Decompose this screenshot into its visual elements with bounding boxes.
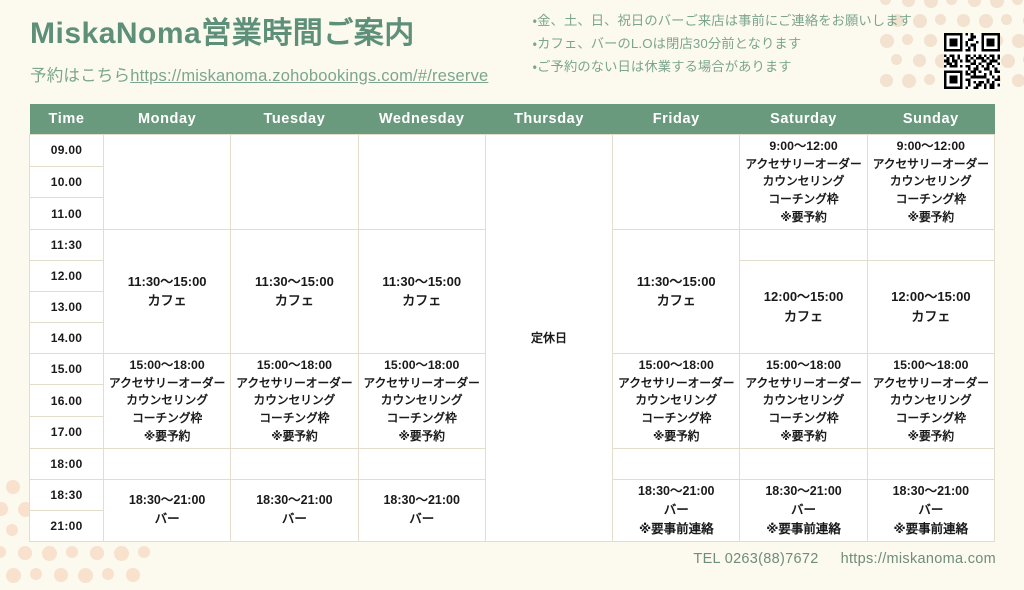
cell-saturday-order-morning[interactable]: 9:00〜12:00 アクセサリーオーダー カウンセリング コーチング枠 ※要予… [740, 135, 867, 230]
block-line-2: バー [741, 501, 865, 520]
block-line-1: 18:30〜21:00 [614, 482, 738, 501]
cell-monday-1800 [104, 448, 231, 479]
block-line-3: カウンセリング [614, 392, 738, 410]
cell-sunday-bar[interactable]: 18:30〜21:00 バー ※要事前連絡 [867, 479, 994, 541]
block-line-1: 15:00〜18:00 [741, 356, 865, 375]
cell-saturday-order[interactable]: 15:00〜18:00 アクセサリーオーダー カウンセリング コーチング枠 ※要… [740, 353, 867, 448]
block-line-1: 15:00〜18:00 [105, 356, 229, 375]
block-text: 12:00〜15:00 カフェ [740, 285, 866, 329]
block-text: 18:30〜21:00 バー [231, 489, 357, 531]
qr-code-svg [944, 33, 1000, 89]
block-text: 18:30〜21:00 バー [104, 489, 230, 531]
block-text: 15:00〜18:00 アクセサリーオーダー カウンセリング コーチング枠 ※要… [868, 354, 994, 448]
time-label: 09.00 [30, 135, 104, 167]
block-line-5: ※要予約 [741, 209, 865, 227]
block-line-4: コーチング枠 [105, 410, 229, 428]
block-text: 15:00〜18:00 アクセサリーオーダー カウンセリング コーチング枠 ※要… [359, 354, 485, 448]
cell-saturday-1800 [740, 448, 867, 479]
block-line-2: カフェ [741, 307, 865, 327]
cell-friday-cafe[interactable]: 11:30〜15:00 カフェ [613, 229, 740, 353]
column-header-wednesday: Wednesday [358, 104, 485, 135]
cell-friday-1800 [613, 448, 740, 479]
block-line-3: カウンセリング [741, 173, 865, 191]
cell-monday-order[interactable]: 15:00〜18:00 アクセサリーオーダー カウンセリング コーチング枠 ※要… [104, 353, 231, 448]
cell-wednesday-morning [358, 135, 485, 230]
block-text: 15:00〜18:00 アクセサリーオーダー カウンセリング コーチング枠 ※要… [231, 354, 357, 448]
note-item-3: ・ご予約のない日は休業する場合があります [533, 56, 912, 79]
block-line-3: ※要事前連絡 [869, 520, 993, 539]
block-text: 18:30〜21:00 バー ※要事前連絡 [740, 480, 866, 541]
block-line-5: ※要予約 [360, 428, 484, 446]
time-label: 10.00 [30, 166, 104, 198]
qr-code-icon[interactable] [944, 33, 1000, 89]
block-line-2: カフェ [614, 291, 738, 311]
column-header-friday: Friday [613, 104, 740, 135]
cell-monday-bar[interactable]: 18:30〜21:00 バー [104, 479, 231, 541]
block-line-5: ※要予約 [869, 428, 993, 446]
time-label: 14.00 [30, 322, 104, 353]
block-line-2: アクセサリーオーダー [869, 375, 993, 393]
block-line-2: バー [614, 501, 738, 520]
block-line-1: 15:00〜18:00 [869, 356, 993, 375]
time-label: 21:00 [30, 510, 104, 541]
cell-thursday-closed: 定休日 [485, 135, 612, 542]
block-line-2: バー [232, 510, 356, 529]
time-label: 16.00 [30, 385, 104, 417]
block-line-2: アクセサリーオーダー [232, 375, 356, 393]
time-label: 11:30 [30, 229, 104, 260]
footer: TEL 0263(88)7672https://miskanoma.com [693, 551, 996, 567]
table-row: 09.00 定休日 9:00〜12:00 アクセサリーオーダー カウンセリング … [30, 135, 995, 167]
block-line-3: カウンセリング [360, 392, 484, 410]
column-header-tuesday: Tuesday [231, 104, 358, 135]
block-line-1: 11:30〜15:00 [360, 272, 484, 292]
block-text: 18:30〜21:00 バー ※要事前連絡 [613, 480, 739, 541]
cell-monday-cafe[interactable]: 11:30〜15:00 カフェ [104, 229, 231, 353]
cell-wednesday-cafe[interactable]: 11:30〜15:00 カフェ [358, 229, 485, 353]
block-text: 9:00〜12:00 アクセサリーオーダー カウンセリング コーチング枠 ※要予… [868, 135, 994, 229]
block-line-2: アクセサリーオーダー [741, 156, 865, 174]
cell-tuesday-1800 [231, 448, 358, 479]
table-header-row: Time Monday Tuesday Wednesday Thursday F… [30, 104, 995, 135]
block-line-1: 9:00〜12:00 [741, 137, 865, 156]
time-label: 17.00 [30, 417, 104, 449]
block-text: 15:00〜18:00 アクセサリーオーダー カウンセリング コーチング枠 ※要… [740, 354, 866, 448]
column-header-time: Time [30, 104, 104, 135]
column-header-sunday: Sunday [867, 104, 994, 135]
cell-saturday-bar[interactable]: 18:30〜21:00 バー ※要事前連絡 [740, 479, 867, 541]
block-line-2: バー [869, 501, 993, 520]
cell-sunday-order[interactable]: 15:00〜18:00 アクセサリーオーダー カウンセリング コーチング枠 ※要… [867, 353, 994, 448]
block-line-3: ※要事前連絡 [741, 520, 865, 539]
time-label: 12.00 [30, 260, 104, 291]
cell-tuesday-bar[interactable]: 18:30〜21:00 バー [231, 479, 358, 541]
block-line-2: バー [360, 510, 484, 529]
cell-tuesday-cafe[interactable]: 11:30〜15:00 カフェ [231, 229, 358, 353]
note-item-1: ・金、土、日、祝日のバーご来店は事前にご連絡をお願いします [533, 10, 912, 33]
block-line-1: 18:30〜21:00 [360, 491, 484, 510]
block-line-3: カウンセリング [869, 392, 993, 410]
block-line-3: カウンセリング [741, 392, 865, 410]
footer-telephone: TEL 0263(88)7672 [693, 551, 818, 567]
block-line-2: カフェ [232, 291, 356, 311]
block-text: 9:00〜12:00 アクセサリーオーダー カウンセリング コーチング枠 ※要予… [740, 135, 866, 229]
cell-sunday-order-morning[interactable]: 9:00〜12:00 アクセサリーオーダー カウンセリング コーチング枠 ※要予… [867, 135, 994, 230]
block-line-1: 9:00〜12:00 [869, 137, 993, 156]
block-line-4: コーチング枠 [869, 410, 993, 428]
reservation-label: 予約はこちら [30, 67, 130, 85]
block-line-1: 18:30〜21:00 [741, 482, 865, 501]
block-line-4: コーチング枠 [360, 410, 484, 428]
block-text: 18:30〜21:00 バー [359, 489, 485, 531]
block-line-3: カウンセリング [869, 173, 993, 191]
cell-friday-order[interactable]: 15:00〜18:00 アクセサリーオーダー カウンセリング コーチング枠 ※要… [613, 353, 740, 448]
cell-sunday-1800 [867, 448, 994, 479]
time-label: 18:00 [30, 448, 104, 479]
block-line-1: 12:00〜15:00 [741, 287, 865, 307]
cell-wednesday-1800 [358, 448, 485, 479]
block-line-4: コーチング枠 [614, 410, 738, 428]
block-line-2: アクセサリーオーダー [869, 156, 993, 174]
cell-tuesday-morning [231, 135, 358, 230]
block-text: 18:30〜21:00 バー ※要事前連絡 [868, 480, 994, 541]
block-line-3: カウンセリング [232, 392, 356, 410]
block-text: 11:30〜15:00 カフェ [231, 270, 357, 314]
cell-sunday-cafe[interactable]: 12:00〜15:00 カフェ [867, 260, 994, 353]
cell-saturday-1130 [740, 229, 867, 260]
block-line-5: ※要予約 [614, 428, 738, 446]
cell-monday-morning [104, 135, 231, 230]
cell-wednesday-order[interactable]: 15:00〜18:00 アクセサリーオーダー カウンセリング コーチング枠 ※要… [358, 353, 485, 448]
block-text: 15:00〜18:00 アクセサリーオーダー カウンセリング コーチング枠 ※要… [613, 354, 739, 448]
cell-tuesday-order[interactable]: 15:00〜18:00 アクセサリーオーダー カウンセリング コーチング枠 ※要… [231, 353, 358, 448]
block-text: 11:30〜15:00 カフェ [359, 270, 485, 314]
column-header-thursday: Thursday [485, 104, 612, 135]
block-line-3: カウンセリング [105, 392, 229, 410]
block-line-4: コーチング枠 [232, 410, 356, 428]
block-line-1: 15:00〜18:00 [614, 356, 738, 375]
column-header-monday: Monday [104, 104, 231, 135]
column-header-saturday: Saturday [740, 104, 867, 135]
time-label: 18:30 [30, 479, 104, 510]
cell-sunday-1130 [867, 229, 994, 260]
cell-wednesday-bar[interactable]: 18:30〜21:00 バー [358, 479, 485, 541]
block-line-4: コーチング枠 [741, 410, 865, 428]
schedule-poster: MiskaNoma営業時間ご案内 予約はこちらhttps://miskanoma… [0, 0, 1024, 576]
block-line-5: ※要予約 [741, 428, 865, 446]
notes-list: ・金、土、日、祝日のバーご来店は事前にご連絡をお願いします ・カフェ、バーのL.… [533, 10, 912, 79]
block-line-5: ※要予約 [232, 428, 356, 446]
block-text: 12:00〜15:00 カフェ [868, 285, 994, 329]
block-line-1: 18:30〜21:00 [232, 491, 356, 510]
time-label: 11.00 [30, 198, 104, 230]
cell-friday-bar[interactable]: 18:30〜21:00 バー ※要事前連絡 [613, 479, 740, 541]
block-text: 11:30〜15:00 カフェ [613, 270, 739, 314]
block-line-5: ※要予約 [869, 209, 993, 227]
block-text: 15:00〜18:00 アクセサリーオーダー カウンセリング コーチング枠 ※要… [104, 354, 230, 448]
block-line-5: ※要予約 [105, 428, 229, 446]
cell-saturday-cafe[interactable]: 12:00〜15:00 カフェ [740, 260, 867, 353]
reservation-link[interactable]: https://miskanoma.zohobookings.com/#/res… [130, 67, 488, 85]
block-line-1: 11:30〜15:00 [105, 272, 229, 292]
block-line-3: ※要事前連絡 [614, 520, 738, 539]
block-line-2: アクセサリーオーダー [360, 375, 484, 393]
block-line-2: アクセサリーオーダー [105, 375, 229, 393]
block-line-2: カフェ [360, 291, 484, 311]
block-line-1: 18:30〜21:00 [869, 482, 993, 501]
closed-label: 定休日 [531, 331, 567, 345]
block-line-2: アクセサリーオーダー [614, 375, 738, 393]
block-line-2: バー [105, 510, 229, 529]
block-line-1: 18:30〜21:00 [105, 491, 229, 510]
block-line-1: 15:00〜18:00 [232, 356, 356, 375]
schedule-table: Time Monday Tuesday Wednesday Thursday F… [29, 104, 995, 542]
block-line-1: 11:30〜15:00 [232, 272, 356, 292]
time-label: 15.00 [30, 353, 104, 385]
block-line-2: カフェ [869, 307, 993, 327]
block-line-1: 12:00〜15:00 [869, 287, 993, 307]
block-line-1: 15:00〜18:00 [360, 356, 484, 375]
block-line-4: コーチング枠 [741, 191, 865, 209]
block-line-2: アクセサリーオーダー [741, 375, 865, 393]
footer-website[interactable]: https://miskanoma.com [841, 551, 996, 567]
time-label: 13.00 [30, 291, 104, 322]
block-line-4: コーチング枠 [869, 191, 993, 209]
block-text: 11:30〜15:00 カフェ [104, 270, 230, 314]
cell-friday-morning [613, 135, 740, 230]
block-line-1: 11:30〜15:00 [614, 272, 738, 292]
note-item-2: ・カフェ、バーのL.Oは閉店30分前となります [533, 33, 912, 56]
block-line-2: カフェ [105, 291, 229, 311]
